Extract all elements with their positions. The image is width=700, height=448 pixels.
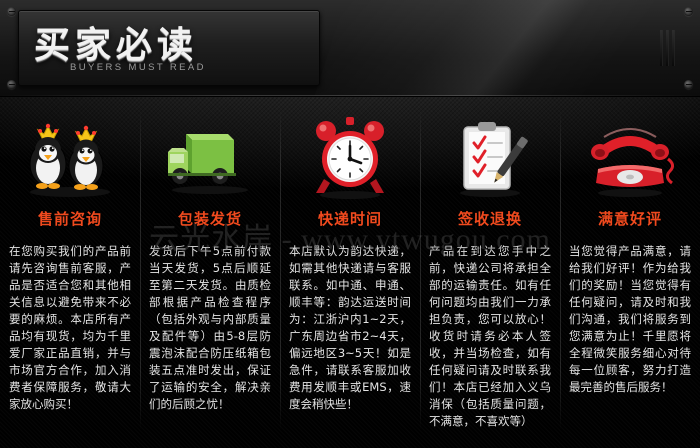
column-title: 包装发货	[149, 208, 271, 229]
alarm-clock-icon	[289, 110, 411, 206]
vent-line	[660, 30, 662, 66]
column-body: 发货后下午5点前付款当天发货，5点后顺延至第二天发货。由质检部根据产品检查程序（…	[149, 243, 271, 413]
column-shipping-time: 快递时间 本店默认为韵达快递，如需其他快递请与客服联系。如中通、申通、顺丰等：韵…	[280, 96, 420, 448]
column-body: 产品在到达您手中之前，快递公司将承担全部的运输责任。如有任何问题均由我们一力承担…	[429, 243, 551, 430]
delivery-truck-icon	[149, 110, 271, 206]
screw-icon	[684, 7, 693, 16]
banner-title-cn: 买家必读	[34, 16, 198, 68]
red-telephone-icon	[569, 110, 691, 206]
column-title: 签收退换	[429, 208, 551, 229]
column-sign-return: 签收退换 产品在到达您手中之前，快递公司将承担全部的运输责任。如有任何问题均由我…	[420, 96, 560, 448]
column-title: 快递时间	[289, 208, 411, 229]
signed-checklist-icon	[429, 110, 551, 206]
banner-header: 买家必读 BUYERS MUST READ	[0, 0, 700, 97]
info-columns: 售前咨询 在您购买我们的产品前请先咨询售前客服，产品是否适合您和其他相关信息以避…	[0, 96, 700, 448]
column-body: 本店默认为韵达快递，如需其他快递请与客服联系。如中通、申通、顺丰等：韵达运送时间…	[289, 243, 411, 413]
screw-icon	[7, 80, 16, 89]
column-pre-sale-consult: 售前咨询 在您购买我们的产品前请先咨询售前客服，产品是否适合您和其他相关信息以避…	[0, 96, 140, 448]
banner-title-en: BUYERS MUST READ	[70, 62, 206, 73]
penguin-couple-icon	[9, 110, 131, 206]
buyers-must-read-page: 买家必读 BUYERS MUST READ	[0, 0, 700, 448]
vent-line	[666, 30, 668, 66]
screw-icon	[684, 80, 693, 89]
banner-sheen	[314, 0, 700, 96]
column-body: 在您购买我们的产品前请先咨询售前客服，产品是否适合您和其他相关信息以避免带来不必…	[9, 243, 131, 413]
column-packaging-shipping: 包装发货 发货后下午5点前付款当天发货，5点后顺延至第二天发货。由质检部根据产品…	[140, 96, 280, 448]
column-body: 当您觉得产品满意，请给我们好评！作为给我们的奖励！当您觉得有任何疑问，请及时和我…	[569, 243, 691, 396]
vent-line	[672, 30, 674, 66]
screw-icon	[7, 7, 16, 16]
column-title: 售前咨询	[9, 208, 131, 229]
column-satisfaction-review: 满意好评 当您觉得产品满意，请给我们好评！作为给我们的奖励！当您觉得有任何疑问，…	[560, 96, 700, 448]
column-title: 满意好评	[569, 208, 691, 229]
